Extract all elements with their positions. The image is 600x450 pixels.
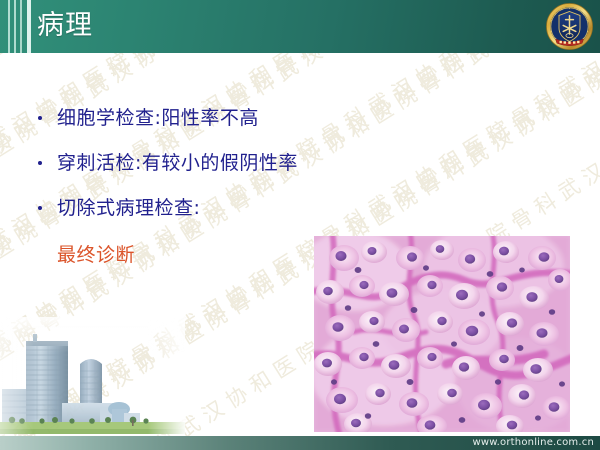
bullet-text: 细胞学检查:阳性率不高 <box>57 107 259 129</box>
bullet-list: 细胞学检查:阳性率不高 穿刺活检:有较小的假阴性率 切除式病理检查: <box>36 104 456 239</box>
bullet-text: 穿刺活检:有较小的假阴性率 <box>57 152 298 174</box>
bullet-item: 穿刺活检:有较小的假阴性率 <box>36 149 456 177</box>
highlight-text: 最终诊断 <box>57 241 135 269</box>
bullet-dot-icon <box>38 116 42 120</box>
presentation-slide: 武汉协和医院骨科武汉协和医院骨科武汉协和医院骨科武汉协和医院骨科武汉协和医院骨科… <box>0 0 600 450</box>
hospital-building-photo <box>0 317 185 437</box>
bullet-item: 细胞学检查:阳性率不高 <box>36 104 456 132</box>
title-accent-stripes <box>7 0 33 53</box>
slide-title-bar: 武汉协和医院骨科武汉协和医院骨科武汉协和医院骨科武汉协和医院骨科武汉协和医院骨科… <box>0 0 600 53</box>
bullet-item: 切除式病理检查: <box>36 194 456 222</box>
histology-micrograph <box>314 236 570 432</box>
bullet-dot-icon <box>38 161 42 165</box>
hospital-emblem-icon <box>546 3 593 50</box>
bullet-text: 切除式病理检查: <box>57 197 200 219</box>
footer-url: www.orthonline.com.cn <box>472 436 594 450</box>
bullet-dot-icon <box>38 206 42 210</box>
slide-title: 病理 <box>37 7 93 45</box>
